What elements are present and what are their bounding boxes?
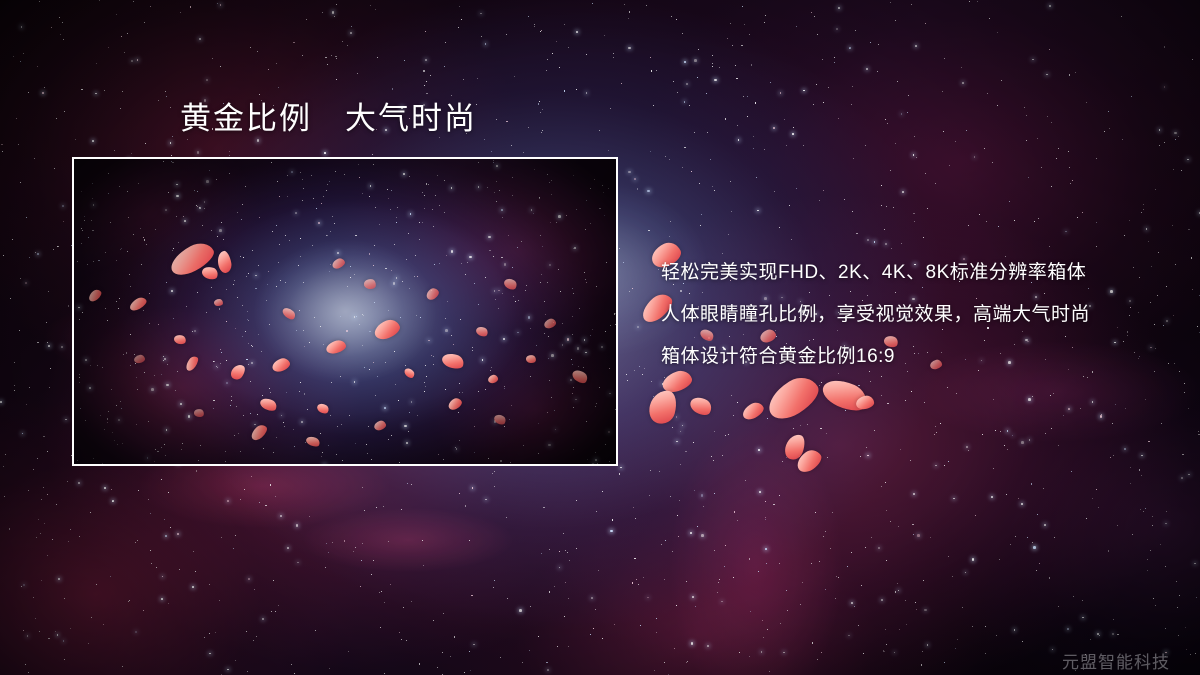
framed-image-panel — [72, 157, 618, 466]
body-line: 箱体设计符合黄金比例16:9 — [661, 336, 1090, 378]
watermark: 元盟智能科技 — [1062, 648, 1170, 673]
petal — [762, 370, 825, 426]
frame-vignette — [74, 159, 616, 464]
body-line: 人体眼睛瞳孔比例，享受视觉效果，高端大气时尚 — [661, 294, 1090, 336]
body-text-block: 轻松完美实现FHD、2K、4K、8K标准分辨率箱体 人体眼睛瞳孔比例，享受视觉效… — [661, 252, 1090, 378]
petal — [646, 387, 680, 427]
petal — [740, 400, 766, 423]
slide-title: 黄金比例 大气时尚 — [180, 101, 477, 137]
presentation-slide: 黄金比例 大气时尚 轻松完美实现FHD、2K、4K、8K标准分辨率箱体 人体眼睛… — [0, 0, 1200, 675]
body-line: 轻松完美实现FHD、2K、4K、8K标准分辨率箱体 — [661, 252, 1090, 294]
petal — [687, 394, 714, 419]
petal — [819, 374, 872, 416]
